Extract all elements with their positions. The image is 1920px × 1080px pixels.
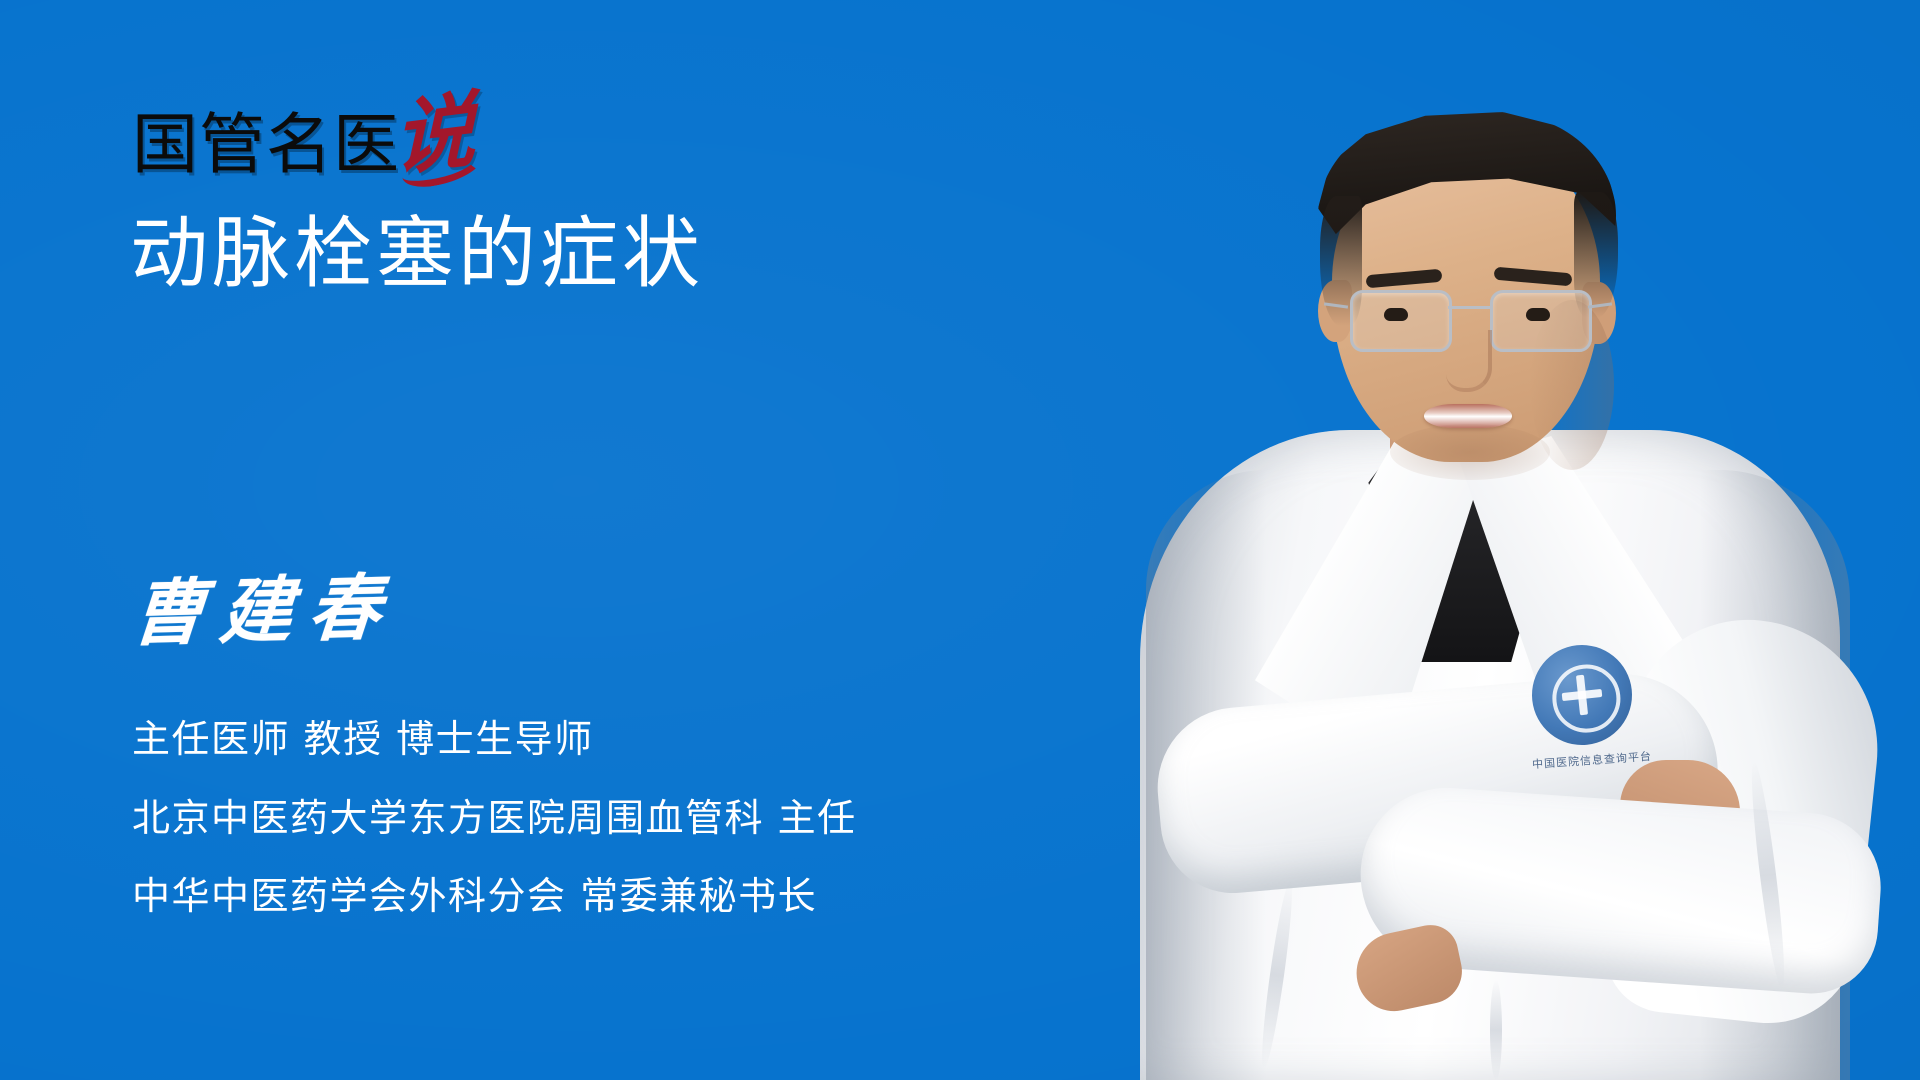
doctor-name: 曹建春 — [129, 571, 399, 650]
coat-badge-emblem — [1527, 640, 1637, 750]
credential-line: 主任医师 教授 博士生导师 — [132, 718, 857, 761]
slide-canvas: 国管名医 说 动脉栓塞的症状 曹建春 主任医师 教授 博士生导师 北京中医药大学… — [0, 0, 1920, 1080]
chin-shading — [1390, 424, 1550, 480]
eye-left — [1384, 308, 1408, 321]
brand-logo-main-text: 国管名医 — [132, 113, 400, 176]
glasses-lens-right — [1490, 290, 1592, 352]
credential-line: 北京中医药大学东方医院周围血管科 主任 — [132, 797, 857, 840]
brand-logo: 国管名医 说 — [132, 96, 476, 176]
glasses-lens-left — [1350, 290, 1452, 352]
doctor-portrait: 中国医院信息查询平台 — [1060, 0, 1920, 1080]
coat-fold — [1490, 980, 1502, 1080]
eye-right — [1526, 308, 1550, 321]
credential-line: 中华中医药学会外科分会 常委兼秘书长 — [132, 875, 857, 918]
glasses-bridge — [1448, 306, 1492, 309]
nose — [1446, 330, 1492, 392]
page-title: 动脉栓塞的症状 — [130, 212, 704, 296]
brand-logo-accent-text: 说 — [393, 98, 476, 174]
doctor-credentials: 主任医师 教授 博士生导师 北京中医药大学东方医院周围血管科 主任 中华中医药学… — [132, 718, 857, 918]
